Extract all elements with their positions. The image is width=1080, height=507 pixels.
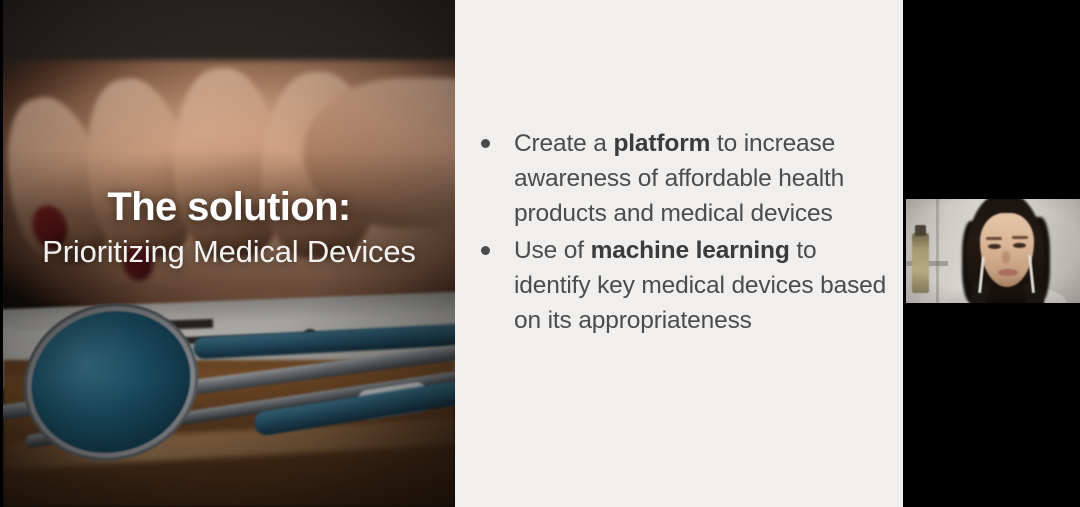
bullet-emphasis: platform: [613, 130, 710, 157]
participant-video-tile[interactable]: [906, 199, 1080, 303]
slide-title-subtitle: Prioritizing Medical Devices: [21, 234, 437, 271]
bullet-text: Create a platform to increase awareness …: [514, 126, 887, 231]
video-vignette: [906, 199, 1080, 303]
bullet-span: Use of: [514, 237, 591, 264]
slide-content-panel: Create a platform to increase awareness …: [455, 0, 903, 507]
bullet-item: Use of machine learning to identify key …: [477, 233, 887, 338]
slide-title-main: The solution:: [21, 185, 437, 230]
meeting-screen: The solution: Prioritizing Medical Devic…: [0, 0, 1080, 507]
bullet-span: Create a: [514, 130, 613, 157]
bullet-item: Create a platform to increase awareness …: [477, 126, 887, 231]
bullet-dot-icon: [481, 246, 490, 255]
slide-photo-panel: The solution: Prioritizing Medical Devic…: [3, 0, 455, 507]
bullet-dot-icon: [481, 139, 490, 148]
bullet-emphasis: machine learning: [591, 237, 790, 264]
slide-title-block: The solution: Prioritizing Medical Devic…: [3, 185, 455, 270]
bullet-text: Use of machine learning to identify key …: [514, 233, 887, 338]
slide-bullet-list: Create a platform to increase awareness …: [477, 126, 887, 340]
